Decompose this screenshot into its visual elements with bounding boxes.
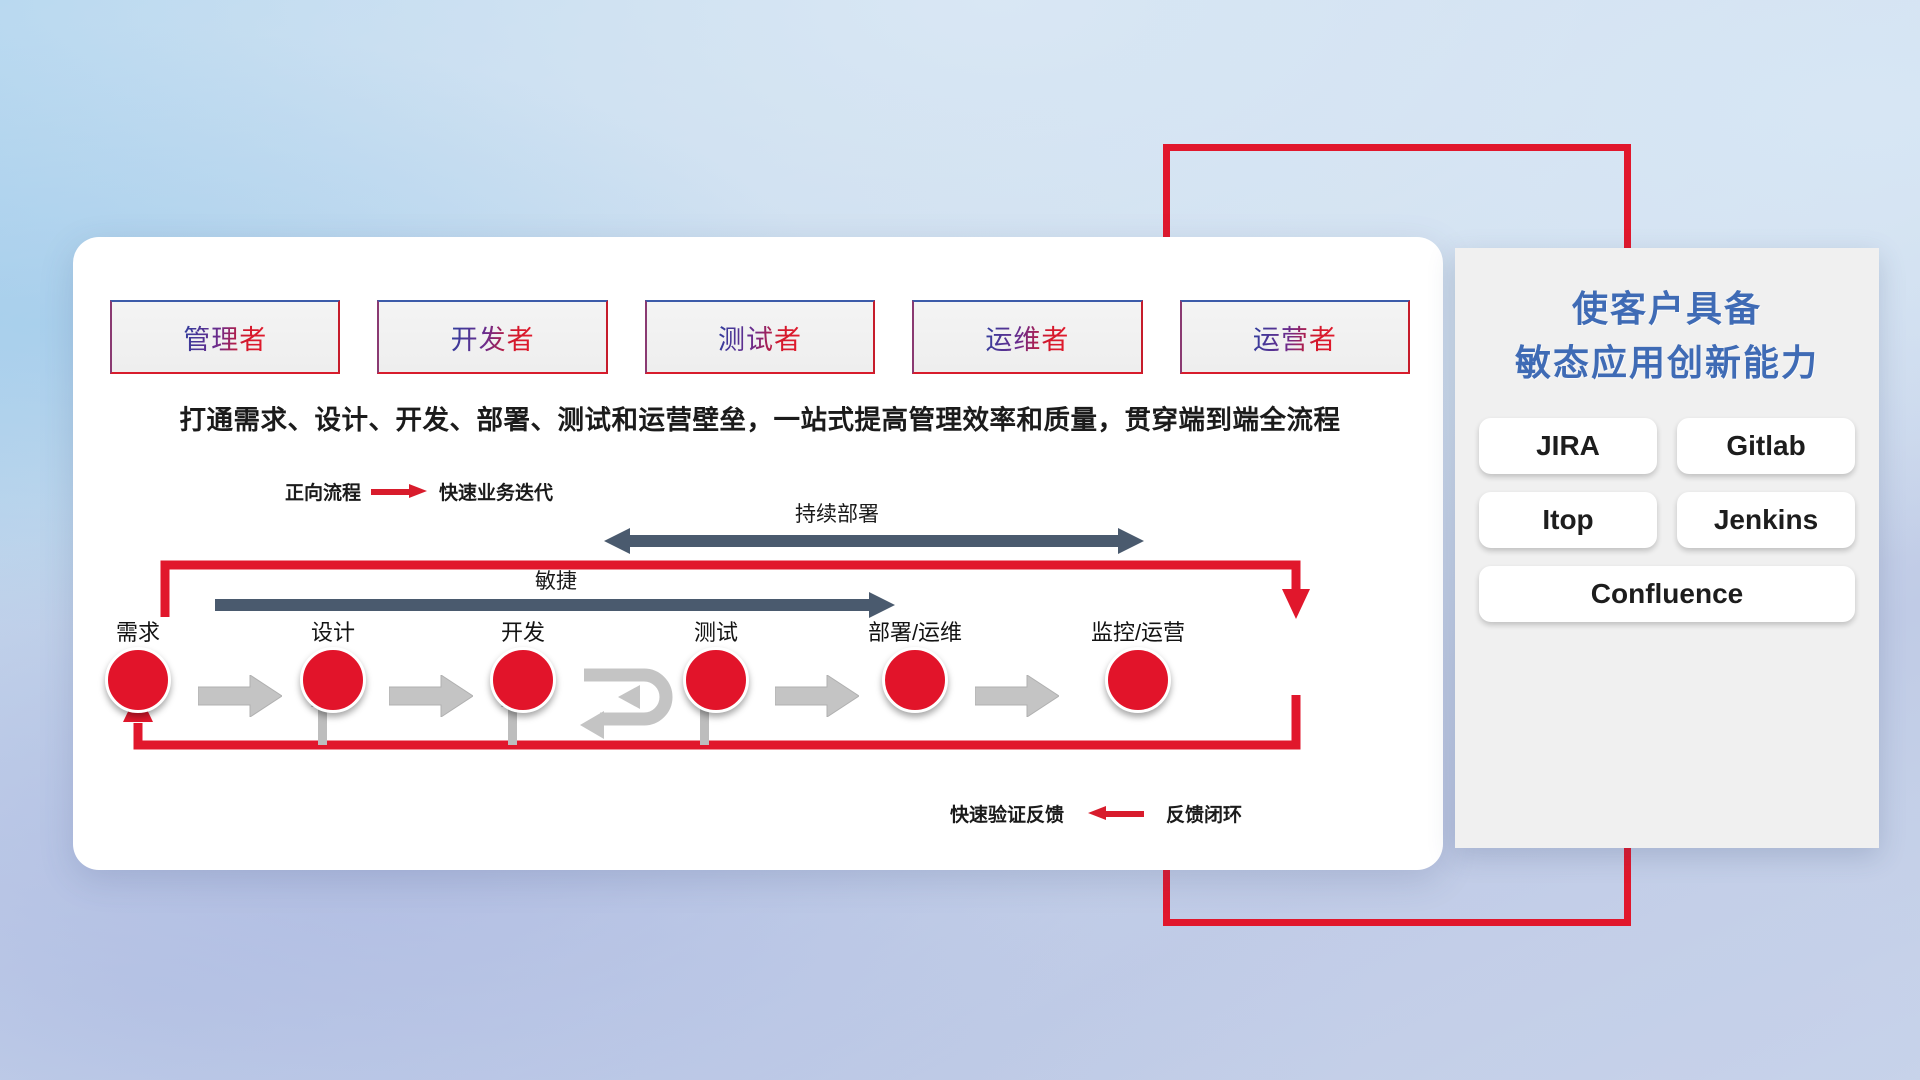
stage-label: 需求 [116,615,160,647]
role-label: 测试者 [718,318,802,357]
headline-text: 打通需求、设计、开发、部署、测试和运营壁垒，一站式提高管理效率和质量，贯穿端到端… [0,398,1520,437]
tool-pill-gitlab[interactable]: Gitlab [1677,418,1855,474]
legend-forward-right-label: 快速业务迭代 [439,478,553,505]
tool-pill-confluence[interactable]: Confluence [1479,566,1855,622]
stage-label: 部署/运维 [868,615,962,647]
arrow-left-icon [1086,808,1144,819]
legend-feedback-left-label: 快速验证反馈 [950,800,1064,827]
stage-label: 设计 [311,615,355,647]
stage-dot [300,647,366,713]
role-box-developer[interactable]: 开发者 [377,300,607,374]
value-proposition-panel: 使客户具备 敏态应用创新能力 JIRA Gitlab Itop Jenkins … [1455,248,1879,848]
tool-pill-itop[interactable]: Itop [1479,492,1657,548]
band-label-continuous-deployment: 持续部署 [795,498,879,528]
legend-forward-flow: 正向流程 快速业务迭代 [285,478,553,505]
panel-title-line1: 使客户具备 [1455,282,1879,336]
stage-dot [105,647,171,713]
role-box-ops[interactable]: 运维者 [912,300,1142,374]
stage-dot [1105,647,1171,713]
role-label: 开发者 [451,318,535,357]
stage-dot [490,647,556,713]
stage-dot [683,647,749,713]
role-box-row: 管理者 开发者 测试者 运维者 运营者 [110,300,1410,370]
loop-back-arrow-icon [578,667,688,741]
legend-forward-left-label: 正向流程 [285,478,361,505]
stage-label: 监控/运营 [1091,615,1185,647]
flow-arrow-icon [198,675,282,717]
pipeline-stage-row: 需求 设计 开发 测试 部署/运维 监控/运营 [100,615,1430,735]
role-box-tester[interactable]: 测试者 [645,300,875,374]
tool-pill-jira[interactable]: JIRA [1479,418,1657,474]
stage-dot [882,647,948,713]
legend-feedback-right-label: 反馈闭环 [1166,800,1242,827]
role-box-manager[interactable]: 管理者 [110,300,340,374]
role-label: 运维者 [985,318,1069,357]
role-label: 管理者 [183,318,267,357]
flow-arrow-icon [775,675,859,717]
role-label: 运营者 [1253,318,1337,357]
tool-pill-jenkins[interactable]: Jenkins [1677,492,1855,548]
legend-feedback-loop: 快速验证反馈 反馈闭环 [950,800,1242,827]
band-arrow-continuous-deployment [604,528,1144,554]
flow-arrow-icon [975,675,1059,717]
stage-label: 开发 [501,615,545,647]
panel-title-line2: 敏态应用创新能力 [1455,336,1879,390]
arrow-right-icon [371,486,429,497]
role-box-operator[interactable]: 运营者 [1180,300,1410,374]
panel-title: 使客户具备 敏态应用创新能力 [1455,248,1879,390]
toolchain-list: JIRA Gitlab Itop Jenkins Confluence [1479,418,1855,622]
band-label-agile: 敏捷 [535,565,577,595]
stage-label: 测试 [694,615,738,647]
flow-arrow-icon [389,675,473,717]
